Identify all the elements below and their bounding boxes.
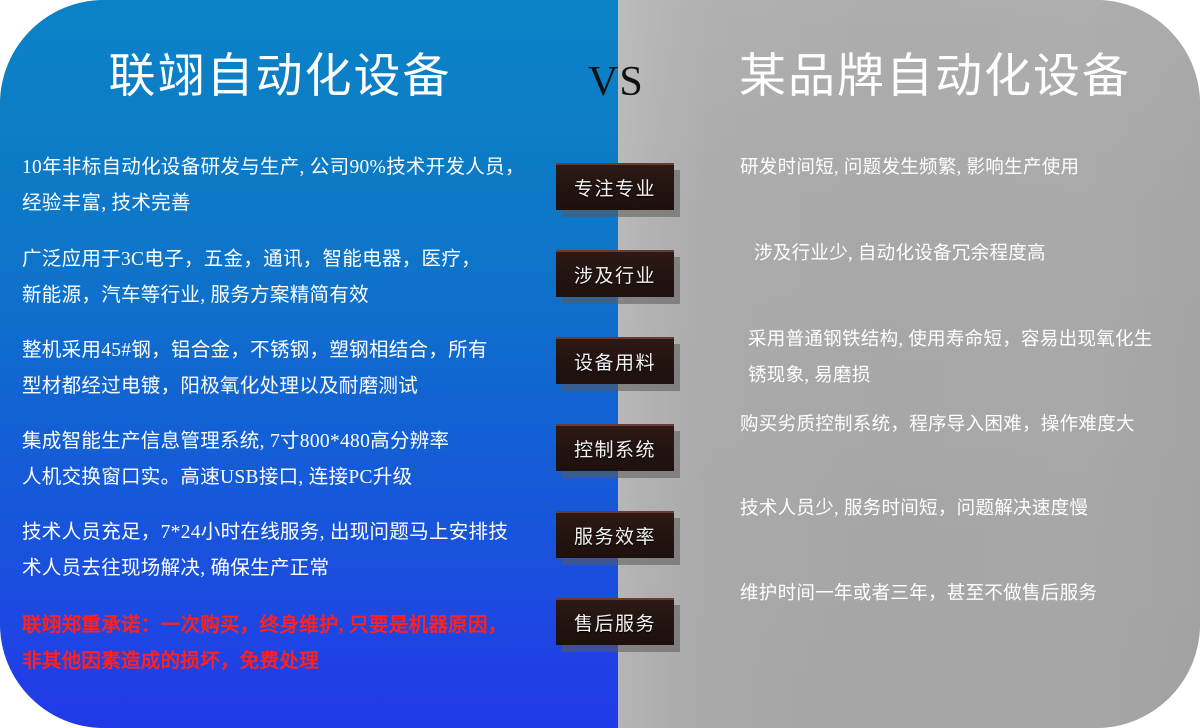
comparison-poster: 联翊自动化设备 VS 某品牌自动化设备 10年非标自动化设备研发与生产, 公司9… (0, 0, 1200, 728)
left-feature-line: 型材都经过电镀，阳极氧化处理以及耐磨测试 (22, 369, 537, 405)
left-feature-row-1: 10年非标自动化设备研发与生产, 公司90%技术开发人员， 经验丰富, 技术完善 (22, 150, 537, 222)
left-feature-row-4: 集成智能生产信息管理系统, 7寸800*480高分辨率 人机交换窗口实。高速US… (22, 424, 537, 496)
right-feature-line: 维护时间一年或者三年，甚至不做售后服务 (740, 576, 1190, 612)
left-feature-line: 技术人员充足，7*24小时在线服务, 出现问题马上安排技 (22, 515, 537, 551)
right-feature-line: 涉及行业少, 自动化设备冗余程度高 (754, 236, 1190, 272)
left-feature-line: 术人员去往现场解决, 确保生产正常 (22, 551, 537, 587)
right-feature-line: 购买劣质控制系统，程序导入困难，操作难度大 (740, 407, 1190, 443)
left-feature-row-3: 整机采用45#钢，铝合金，不锈钢，塑钢相结合，所有 型材都经过电镀，阳极氧化处理… (22, 333, 537, 405)
vs-label: VS (588, 58, 644, 106)
left-feature-line: 广泛应用于3C电子，五金，通讯，智能电器，医疗， (22, 242, 537, 278)
promise-line: 非其他因素造成的损坏，免费处理 (22, 644, 537, 680)
right-feature-row-5: 技术人员少, 服务时间短，问题解决速度慢 (740, 491, 1190, 576)
right-feature-column: 研发时间短, 问题发生频繁, 影响生产使用 涉及行业少, 自动化设备冗余程度高 … (740, 150, 1190, 612)
left-feature-line: 10年非标自动化设备研发与生产, 公司90%技术开发人员， (22, 150, 537, 186)
badge-focus[interactable]: 专注专业 (556, 163, 674, 210)
right-feature-row-3: 采用普通钢铁结构, 使用寿命短，容易出现氧化生 锈现象, 易磨损 (740, 322, 1190, 407)
left-feature-line: 人机交换窗口实。高速USB接口, 连接PC升级 (22, 460, 537, 496)
badge-after-sales[interactable]: 售后服务 (556, 598, 674, 645)
left-feature-row-5: 技术人员充足，7*24小时在线服务, 出现问题马上安排技 术人员去往现场解决, … (22, 515, 537, 587)
left-feature-line: 经验丰富, 技术完善 (22, 186, 537, 222)
badge-label: 控制系统 (574, 435, 656, 462)
right-title: 某品牌自动化设备 (680, 50, 1190, 104)
right-feature-line: 技术人员少, 服务时间短，问题解决速度慢 (740, 491, 1190, 527)
right-feature-line: 采用普通钢铁结构, 使用寿命短，容易出现氧化生 (748, 322, 1190, 358)
badge-control-system[interactable]: 控制系统 (556, 424, 674, 471)
badge-label: 售后服务 (574, 609, 656, 636)
left-feature-row-2: 广泛应用于3C电子，五金，通讯，智能电器，医疗， 新能源，汽车等行业, 服务方案… (22, 242, 537, 314)
badge-label: 涉及行业 (574, 261, 656, 288)
badge-label: 服务效率 (574, 522, 656, 549)
promise-line: 联翊郑重承诺：一次购买，终身维护, 只要是机器原因， (22, 608, 537, 644)
left-feature-line: 集成智能生产信息管理系统, 7寸800*480高分辨率 (22, 424, 537, 460)
right-feature-row-6: 维护时间一年或者三年，甚至不做售后服务 (740, 576, 1190, 612)
badge-industries[interactable]: 涉及行业 (556, 250, 674, 297)
badge-service-efficiency[interactable]: 服务效率 (556, 511, 674, 558)
right-feature-line: 研发时间短, 问题发生频繁, 影响生产使用 (740, 150, 1190, 186)
right-feature-row-2: 涉及行业少, 自动化设备冗余程度高 (740, 236, 1190, 322)
badge-label: 设备用料 (574, 348, 656, 375)
right-feature-line: 锈现象, 易磨损 (748, 358, 1190, 394)
left-feature-row-6-promise: 联翊郑重承诺：一次购买，终身维护, 只要是机器原因， 非其他因素造成的损坏，免费… (22, 608, 537, 680)
left-title: 联翊自动化设备 (0, 50, 560, 104)
badge-materials[interactable]: 设备用料 (556, 337, 674, 384)
right-feature-row-1: 研发时间短, 问题发生频繁, 影响生产使用 (740, 150, 1190, 236)
left-feature-line: 新能源，汽车等行业, 服务方案精简有效 (22, 278, 537, 314)
badge-label: 专注专业 (574, 174, 656, 201)
left-feature-line: 整机采用45#钢，铝合金，不锈钢，塑钢相结合，所有 (22, 333, 537, 369)
comparison-category-badges: 专注专业 涉及行业 设备用料 控制系统 服务效率 售后服务 (556, 163, 674, 685)
right-feature-row-4: 购买劣质控制系统，程序导入困难，操作难度大 (740, 407, 1190, 491)
left-feature-column: 10年非标自动化设备研发与生产, 公司90%技术开发人员， 经验丰富, 技术完善… (22, 150, 537, 680)
